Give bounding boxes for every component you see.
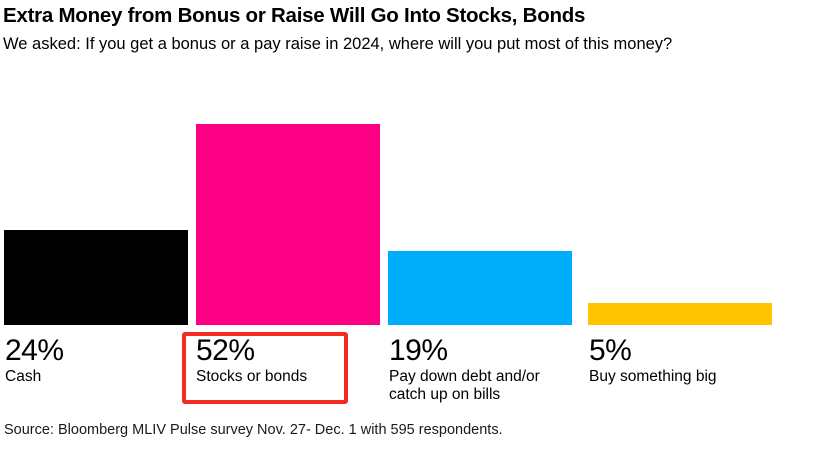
value-label-stocks-or-bonds: 52%	[196, 334, 356, 367]
value-label-pay-down-debt: 19%	[389, 334, 579, 367]
source-note: Source: Bloomberg MLIV Pulse survey Nov.…	[4, 421, 503, 439]
category-label-cash: 24% Cash	[5, 334, 175, 386]
caption-pay-down-debt-line2: catch up on bills	[389, 386, 579, 404]
caption-buy-something-big: Buy something big	[589, 368, 789, 386]
bar-stocks-or-bonds	[196, 124, 380, 325]
category-label-buy-something-big: 5% Buy something big	[589, 334, 789, 386]
bar-pay-down-debt	[388, 251, 572, 325]
category-label-pay-down-debt: 19% Pay down debt and/or catch up on bil…	[389, 334, 579, 403]
value-label-buy-something-big: 5%	[589, 334, 789, 367]
bar-buy-something-big	[588, 303, 772, 325]
bar-cash	[4, 230, 188, 325]
category-label-stocks-or-bonds: 52% Stocks or bonds	[196, 334, 356, 386]
caption-stocks-or-bonds: Stocks or bonds	[196, 368, 356, 386]
caption-cash: Cash	[5, 368, 175, 386]
caption-pay-down-debt-line1: Pay down debt and/or	[389, 368, 579, 386]
value-label-cash: 24%	[5, 334, 175, 367]
